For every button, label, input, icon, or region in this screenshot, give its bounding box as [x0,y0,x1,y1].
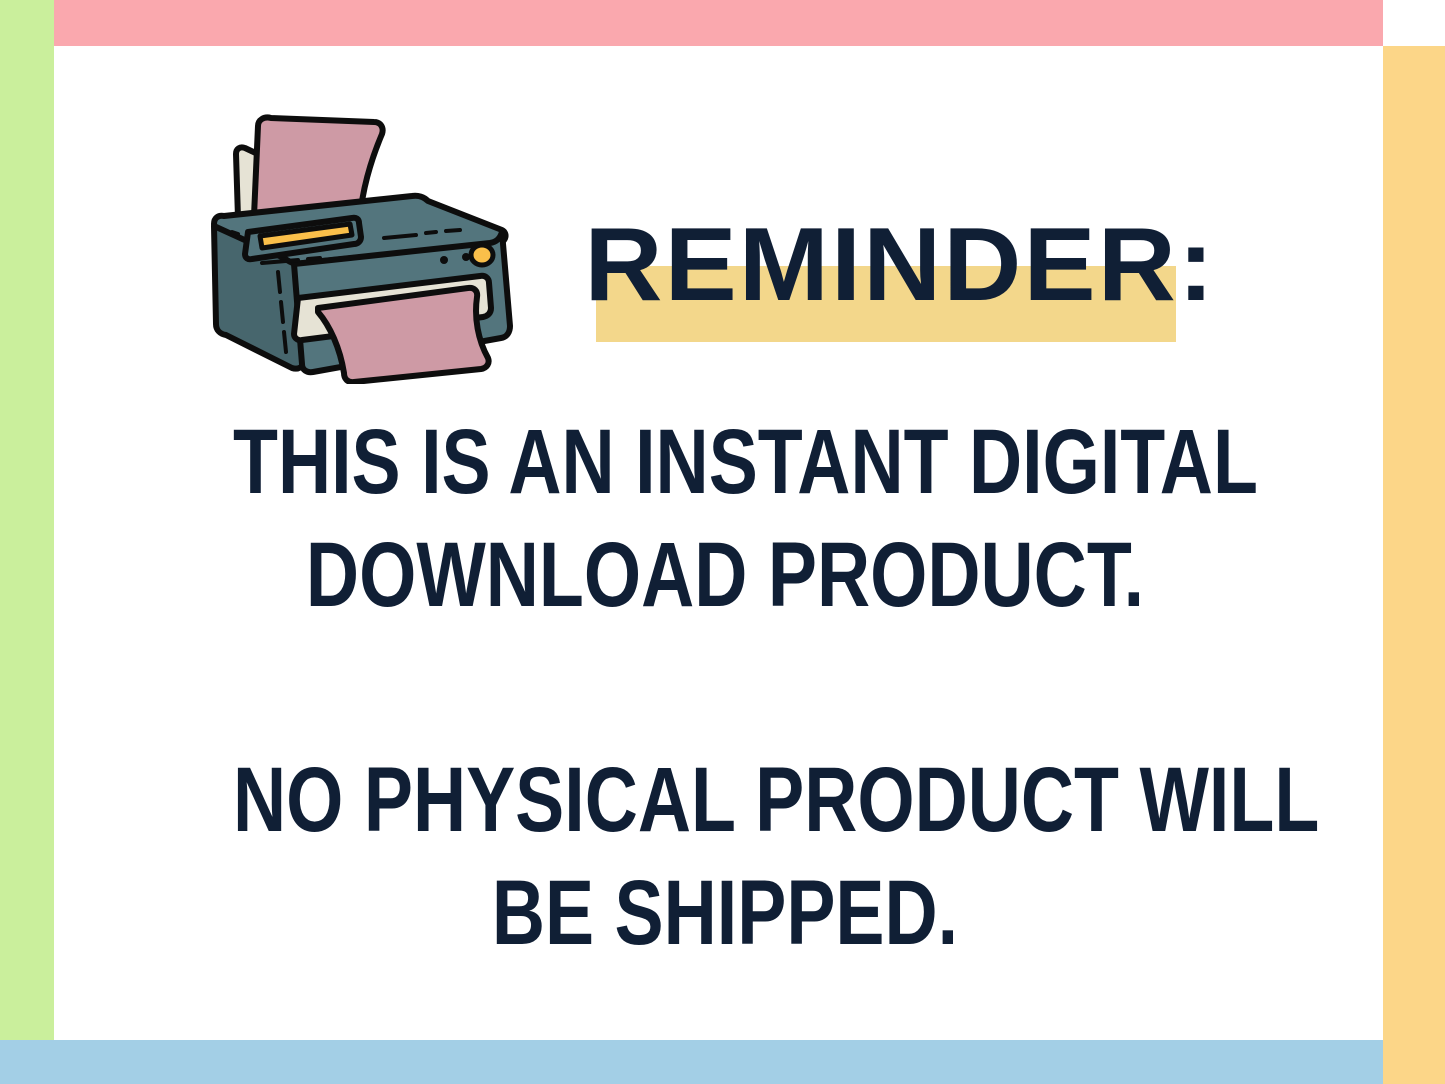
body-line-2: DOWNLOAD PRODUCT. [233,519,1217,632]
printer-output-sheet-pink [318,288,489,382]
printer-seam-2 [426,232,436,233]
body-line-spacer [110,632,1340,744]
body-line-1: THIS IS AN INSTANT DIGITAL [233,406,1217,519]
page-title: REMINDER: [584,212,1187,318]
top-pink-band [54,0,1383,46]
printer-seam-6 [232,232,238,234]
headline-block: REMINDER: [596,212,1176,342]
body-copy: THIS IS AN INSTANT DIGITAL DOWNLOAD PROD… [110,406,1340,970]
printer-button-a [440,256,448,264]
bottom-blue-band [0,1040,1383,1084]
body-line-3: NO PHYSICAL PRODUCT WILL [233,744,1217,857]
printer-corner-seam-2 [281,302,283,322]
printer-seam-5 [308,258,320,259]
right-orange-band [1383,46,1445,1084]
printer-seam-3 [446,230,460,231]
printer-power-light [471,245,493,265]
left-green-band [0,0,54,1040]
printer-corner-seam-1 [278,272,280,292]
printer-button-b [462,253,470,261]
printer-icon [186,96,538,384]
body-line-4: BE SHIPPED. [233,857,1217,970]
printer-corner-seam-3 [284,332,286,352]
poster-canvas: REMINDER: THIS IS AN INSTANT DIGITAL DOW… [0,0,1445,1084]
